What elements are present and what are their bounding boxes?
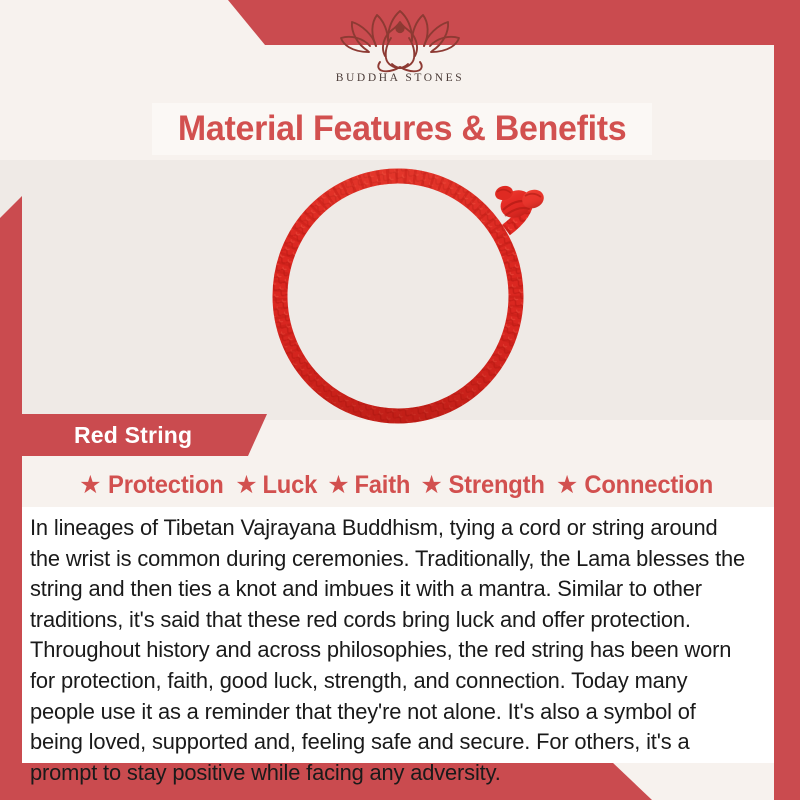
description-paragraph: In lineages of Tibetan Vajrayana Buddhis… [30,513,749,788]
red-string-bracelet-image [238,158,588,426]
star-icon: ★ [556,473,578,498]
star-icon: ★ [327,473,349,498]
benefit-item-luck: ★ Luck [232,471,321,500]
description-panel: In lineages of Tibetan Vajrayana Buddhis… [22,507,774,763]
brand-wordmark: BUDDHA STONES [336,72,464,84]
decorative-left-band [0,196,22,800]
benefit-label: Strength [448,471,544,500]
benefit-item-strength: ★ Strength [417,471,550,500]
star-icon: ★ [235,473,257,498]
benefit-label: Connection [585,471,714,500]
section-ribbon-label: Red String [22,422,192,449]
star-icon: ★ [420,473,442,498]
section-ribbon: Red String [22,414,267,456]
page-title-band: Material Features & Benefits [152,103,652,155]
benefit-item-protection: ★ Protection [76,471,229,500]
decorative-right-band [774,0,800,800]
page-title: Material Features & Benefits [178,109,626,149]
benefit-item-faith: ★ Faith [324,471,414,500]
benefit-label: Luck [262,471,317,500]
benefit-label: Protection [108,471,224,500]
benefits-list: ★ Protection ★ Luck ★ Faith ★ Strength ★… [22,464,774,506]
benefit-label: Faith [354,471,410,500]
benefit-item-connection: ★ Connection [553,471,720,500]
star-icon: ★ [79,473,101,498]
brand-header: BUDDHA STONES [0,0,800,100]
infographic-page: BUDDHA STONES Material Features & Benefi… [0,0,800,800]
lotus-meditation-icon [335,8,465,74]
